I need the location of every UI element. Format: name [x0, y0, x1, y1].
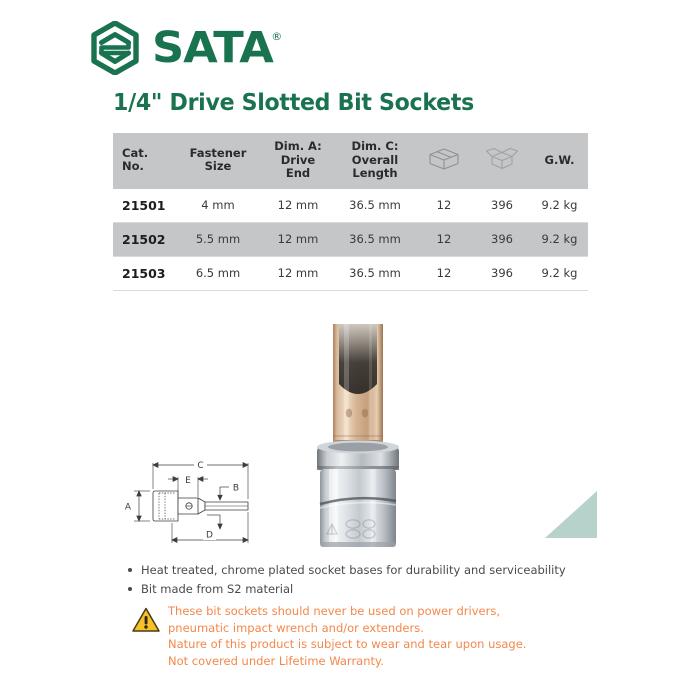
warning-triangle-icon [131, 605, 161, 635]
cell-gross-weight: 9.2 kg [531, 222, 588, 256]
diagram-label-b: B [233, 484, 239, 494]
page-title: 1/4" Drive Slotted Bit Sockets [113, 90, 474, 116]
bullet-dot-icon [128, 568, 132, 572]
warning-line: These bit sockets should never be used o… [168, 603, 526, 620]
list-item: Heat treated, chrome plated socket bases… [128, 561, 568, 580]
list-item: Bit made from S2 material [128, 580, 568, 599]
cell-dim-a: 12 mm [261, 256, 335, 290]
cell-outer-qty: 396 [473, 189, 531, 223]
table-body: 215014 mm12 mm36.5 mm123969.2 kg215025.5… [113, 189, 588, 291]
column-header-cat-no: Cat. No. [113, 133, 175, 189]
cell-dim-c: 36.5 mm [335, 189, 415, 223]
table-header-row: Cat. No. Fastener Size Dim. A: Drive End… [113, 133, 588, 189]
dim-c-line3: Length [338, 167, 412, 181]
column-header-outer-carton [473, 133, 531, 189]
sata-hexagon-logo-icon [88, 21, 142, 75]
column-header-inner-pack [415, 133, 473, 189]
diagram-label-a: A [125, 503, 132, 513]
cell-dim-a: 12 mm [261, 222, 335, 256]
dim-c-line1: Dim. C: [338, 140, 412, 154]
cell-dim-c: 36.5 mm [335, 222, 415, 256]
decorative-triangle [545, 491, 597, 538]
cell-cat-no: 21501 [113, 189, 175, 223]
warning-line: Not covered under Lifetime Warranty. [168, 653, 526, 670]
cell-gross-weight: 9.2 kg [531, 189, 588, 223]
cell-dim-a: 12 mm [261, 189, 335, 223]
bullet-dot-icon [128, 587, 132, 591]
fastener-line1: Fastener [178, 147, 258, 161]
cat-no-line2: No. [122, 160, 172, 174]
warning-block: These bit sockets should never be used o… [131, 603, 571, 670]
cell-inner-qty: 12 [415, 189, 473, 223]
cell-fastener-size: 4 mm [175, 189, 261, 223]
diagram-label-e: E [185, 476, 191, 486]
fastener-line2: Size [178, 160, 258, 174]
warning-line: Nature of this product is subject to wea… [168, 636, 526, 653]
brand-wordmark: SATA ® [152, 28, 282, 69]
dim-a-line2: Drive [264, 154, 332, 168]
cat-no-line1: Cat. [122, 147, 172, 161]
column-header-fastener-size: Fastener Size [175, 133, 261, 189]
column-header-gross-weight: G.W. [531, 133, 588, 189]
cell-cat-no: 21502 [113, 222, 175, 256]
table-row: 215036.5 mm12 mm36.5 mm123969.2 kg [113, 256, 588, 290]
dim-c-line2: Overall [338, 154, 412, 168]
cell-dim-c: 36.5 mm [335, 256, 415, 290]
feature-text: Bit made from S2 material [141, 582, 293, 596]
spec-table: Cat. No. Fastener Size Dim. A: Drive End… [113, 133, 588, 291]
brand-name: SATA [152, 28, 273, 69]
open-box-icon [476, 146, 528, 176]
product-photo [299, 318, 417, 550]
warning-line: pneumatic impact wrench and/or extenders… [168, 620, 526, 637]
column-header-dim-a: Dim. A: Drive End [261, 133, 335, 189]
cell-inner-qty: 12 [415, 256, 473, 290]
dimension-diagram: C E B A D [112, 443, 292, 551]
column-header-dim-c: Dim. C: Overall Length [335, 133, 415, 189]
cell-inner-qty: 12 [415, 222, 473, 256]
table-row: 215014 mm12 mm36.5 mm123969.2 kg [113, 189, 588, 223]
diagram-label-c: C [197, 461, 203, 471]
cell-cat-no: 21503 [113, 256, 175, 290]
cell-fastener-size: 6.5 mm [175, 256, 261, 290]
table-header: Cat. No. Fastener Size Dim. A: Drive End… [113, 133, 588, 189]
dim-a-line1: Dim. A: [264, 140, 332, 154]
feature-text: Heat treated, chrome plated socket bases… [141, 563, 566, 577]
feature-list: Heat treated, chrome plated socket bases… [128, 561, 568, 598]
cell-fastener-size: 5.5 mm [175, 222, 261, 256]
dim-a-line3: End [264, 167, 332, 181]
diagram-label-d: D [206, 531, 213, 541]
cell-outer-qty: 396 [473, 256, 531, 290]
warning-text-block: These bit sockets should never be used o… [168, 603, 526, 670]
brand-header: SATA ® [88, 20, 388, 76]
cell-outer-qty: 396 [473, 222, 531, 256]
closed-box-icon [418, 146, 470, 176]
cell-gross-weight: 9.2 kg [531, 256, 588, 290]
table-row: 215025.5 mm12 mm36.5 mm123969.2 kg [113, 222, 588, 256]
